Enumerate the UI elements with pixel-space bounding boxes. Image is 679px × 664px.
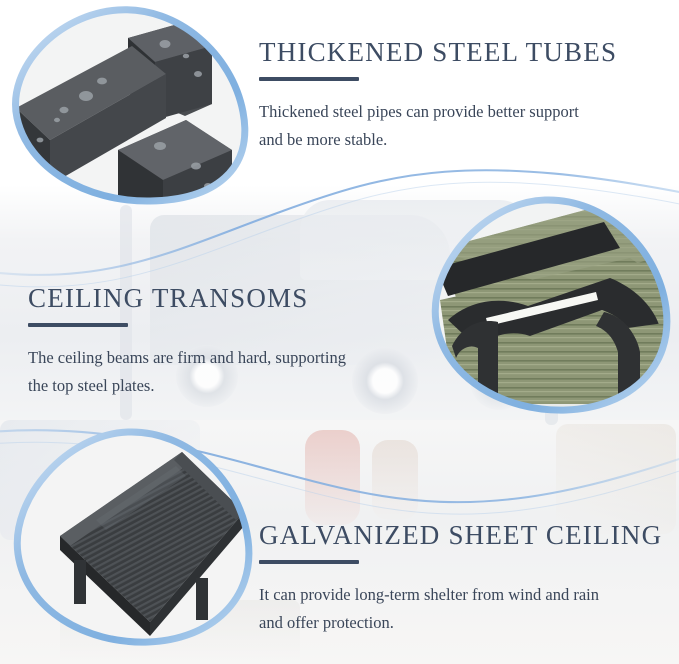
feature-text-galvanized-sheet-ceiling: GALVANIZED SHEET CEILING It can provide … xyxy=(259,521,662,637)
heading-underline-rule xyxy=(28,323,128,327)
heading-underline-rule xyxy=(259,77,359,81)
feature-body-line: and be more stable. xyxy=(259,126,617,154)
heading-underline-rule xyxy=(259,560,359,564)
feature-body-line: the top steel plates. xyxy=(28,372,346,400)
feature-image-thickened-steel-tubes xyxy=(10,0,255,232)
feature-body-line: The ceiling beams are firm and hard, sup… xyxy=(28,344,346,372)
infographic-canvas: THICKENED STEEL TUBES Thickened steel pi… xyxy=(0,0,679,664)
feature-heading: GALVANIZED SHEET CEILING xyxy=(259,521,662,549)
feature-body-line: It can provide long-term shelter from wi… xyxy=(259,581,659,609)
feature-image-ceiling-transoms xyxy=(430,195,679,422)
feature-image-galvanized-sheet-ceiling xyxy=(10,425,255,645)
feature-body: Thickened steel pipes can provide better… xyxy=(259,98,617,154)
feature-text-ceiling-transoms: CEILING TRANSOMS The ceiling beams are f… xyxy=(28,284,346,400)
feature-text-thickened-steel-tubes: THICKENED STEEL TUBES Thickened steel pi… xyxy=(259,38,617,154)
feature-heading: CEILING TRANSOMS xyxy=(28,284,346,312)
feature-body-line: Thickened steel pipes can provide better… xyxy=(259,98,617,126)
feature-body-line: and offer protection. xyxy=(259,609,659,637)
feature-body: The ceiling beams are firm and hard, sup… xyxy=(28,344,346,400)
feature-body: It can provide long-term shelter from wi… xyxy=(259,581,659,637)
feature-heading: THICKENED STEEL TUBES xyxy=(259,38,617,66)
